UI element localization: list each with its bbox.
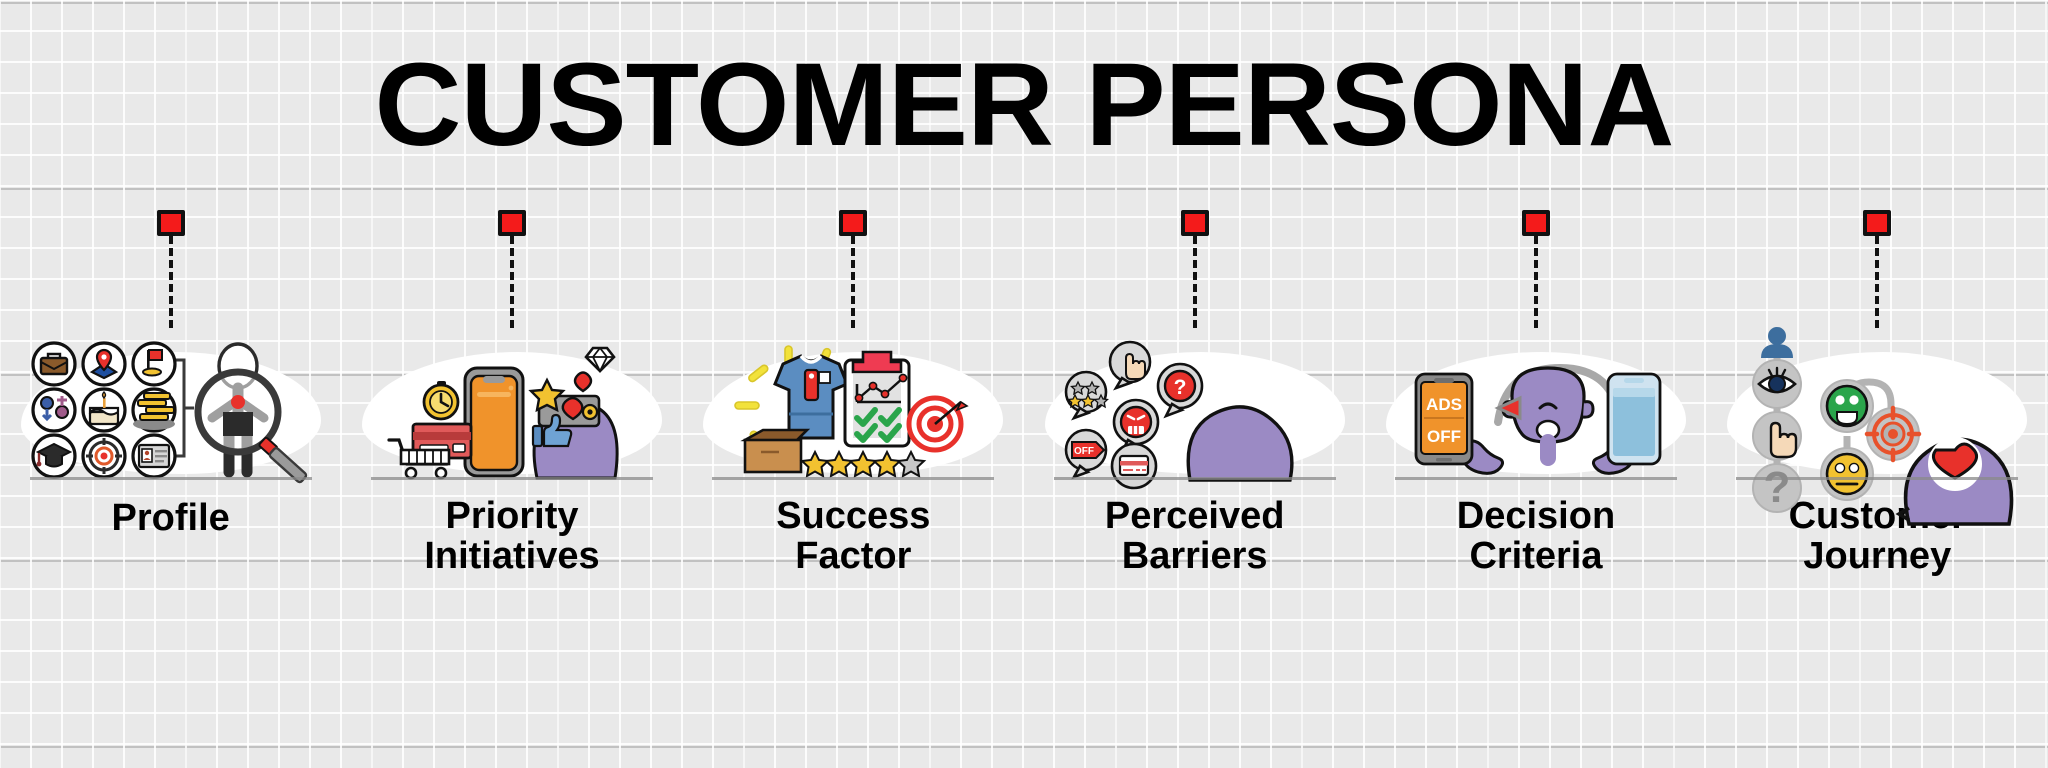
priority-initiatives-icon (387, 340, 637, 480)
column-container: Profile (0, 210, 2048, 768)
svg-text:?: ? (1173, 376, 1186, 399)
column-customer-journey[interactable]: ? (1707, 210, 2048, 768)
infographic-canvas: CUSTOMER PERSONA (0, 0, 2048, 768)
column-decision-criteria[interactable]: ADS OFF Decision (1365, 210, 1706, 768)
illustration-profile (0, 332, 341, 480)
column-perceived-barriers[interactable]: ? (1024, 210, 1365, 768)
profile-persona-icon (26, 340, 316, 480)
customer-journey-icon: ? (1747, 324, 2007, 524)
dashed-stem (1875, 236, 1879, 328)
person-node-icon (1761, 328, 1793, 358)
briefcase-icon (41, 354, 67, 374)
illustration-customer-journey: ? (1707, 332, 2048, 480)
svg-text:?: ? (1764, 463, 1791, 512)
off-tag-bubble: OFF (1066, 430, 1106, 477)
star-rating-bubble (1066, 372, 1108, 418)
smartphone-icon (465, 368, 523, 476)
timer-icon (424, 381, 458, 419)
dashed-stem (1534, 236, 1538, 328)
red-square-marker (1863, 210, 1891, 236)
baseline-rule (712, 477, 994, 480)
id-card-icon (139, 445, 169, 467)
phone-label-off: OFF (1427, 427, 1461, 446)
caption-decision-criteria: Decision Criteria (1457, 496, 1615, 577)
dashed-stem (1193, 236, 1197, 328)
target-node-icon (1867, 408, 1919, 460)
illustration-perceived-barriers: ? (1024, 332, 1365, 480)
dashed-stem (169, 236, 173, 328)
red-square-marker (498, 210, 526, 236)
decision-criteria-icon: ADS OFF (1406, 340, 1666, 480)
credit-card-bubble (1112, 444, 1156, 488)
column-profile[interactable]: Profile (0, 210, 341, 768)
target-arrow-icon (909, 398, 967, 450)
purple-head-icon (1188, 407, 1292, 480)
cursor-hand-bubble (1110, 342, 1150, 388)
baseline-rule (371, 477, 653, 480)
star-rating-icon (802, 452, 924, 476)
phone-label-ads: ADS (1426, 395, 1462, 414)
red-square-marker (1181, 210, 1209, 236)
orange-phone-ads-off: ADS OFF (1416, 374, 1472, 464)
neutral-face-node-icon (1821, 448, 1873, 500)
question-node-icon: ? (1753, 463, 1801, 512)
cardboard-box-icon (745, 430, 807, 472)
baseline-rule (1054, 477, 1336, 480)
caption-priority-initiatives: Priority Initiatives (424, 496, 599, 577)
illustration-decision-criteria: ADS OFF (1365, 332, 1706, 480)
dashed-stem (510, 236, 514, 328)
baseline-rule (30, 477, 312, 480)
caption-perceived-barriers: Perceived Barriers (1105, 496, 1285, 577)
success-factor-icon (723, 340, 983, 480)
purple-head-heart-icon (1899, 438, 2012, 524)
magnifying-glass-icon (198, 372, 307, 483)
page-title: CUSTOMER PERSONA (0, 46, 2048, 164)
eye-node-icon (1753, 360, 1801, 408)
red-square-marker (1522, 210, 1550, 236)
illustration-priority-initiatives (341, 332, 682, 480)
question-mark-bubble: ? (1158, 364, 1202, 416)
dashed-stem (851, 236, 855, 328)
red-square-marker (157, 210, 185, 236)
column-success-factor[interactable]: Success Factor (683, 210, 1024, 768)
baseline-rule (1736, 477, 2018, 480)
illustration-success-factor (683, 332, 1024, 480)
diamond-icon (586, 348, 614, 371)
hand-cursor-node-icon (1753, 412, 1801, 460)
caption-profile: Profile (112, 498, 230, 538)
caption-success-factor: Success Factor (776, 496, 930, 577)
svg-text:OFF: OFF (1074, 446, 1094, 457)
red-square-marker (839, 210, 867, 236)
baseline-rule (1395, 477, 1677, 480)
happy-face-node-icon (1821, 380, 1873, 432)
blue-phone-icon (1608, 374, 1660, 464)
perceived-barriers-icon: ? (1070, 340, 1320, 480)
heart-icon (575, 373, 591, 392)
column-priority-initiatives[interactable]: Priority Initiatives (341, 210, 682, 768)
clipboard-checklist-icon (845, 352, 909, 446)
